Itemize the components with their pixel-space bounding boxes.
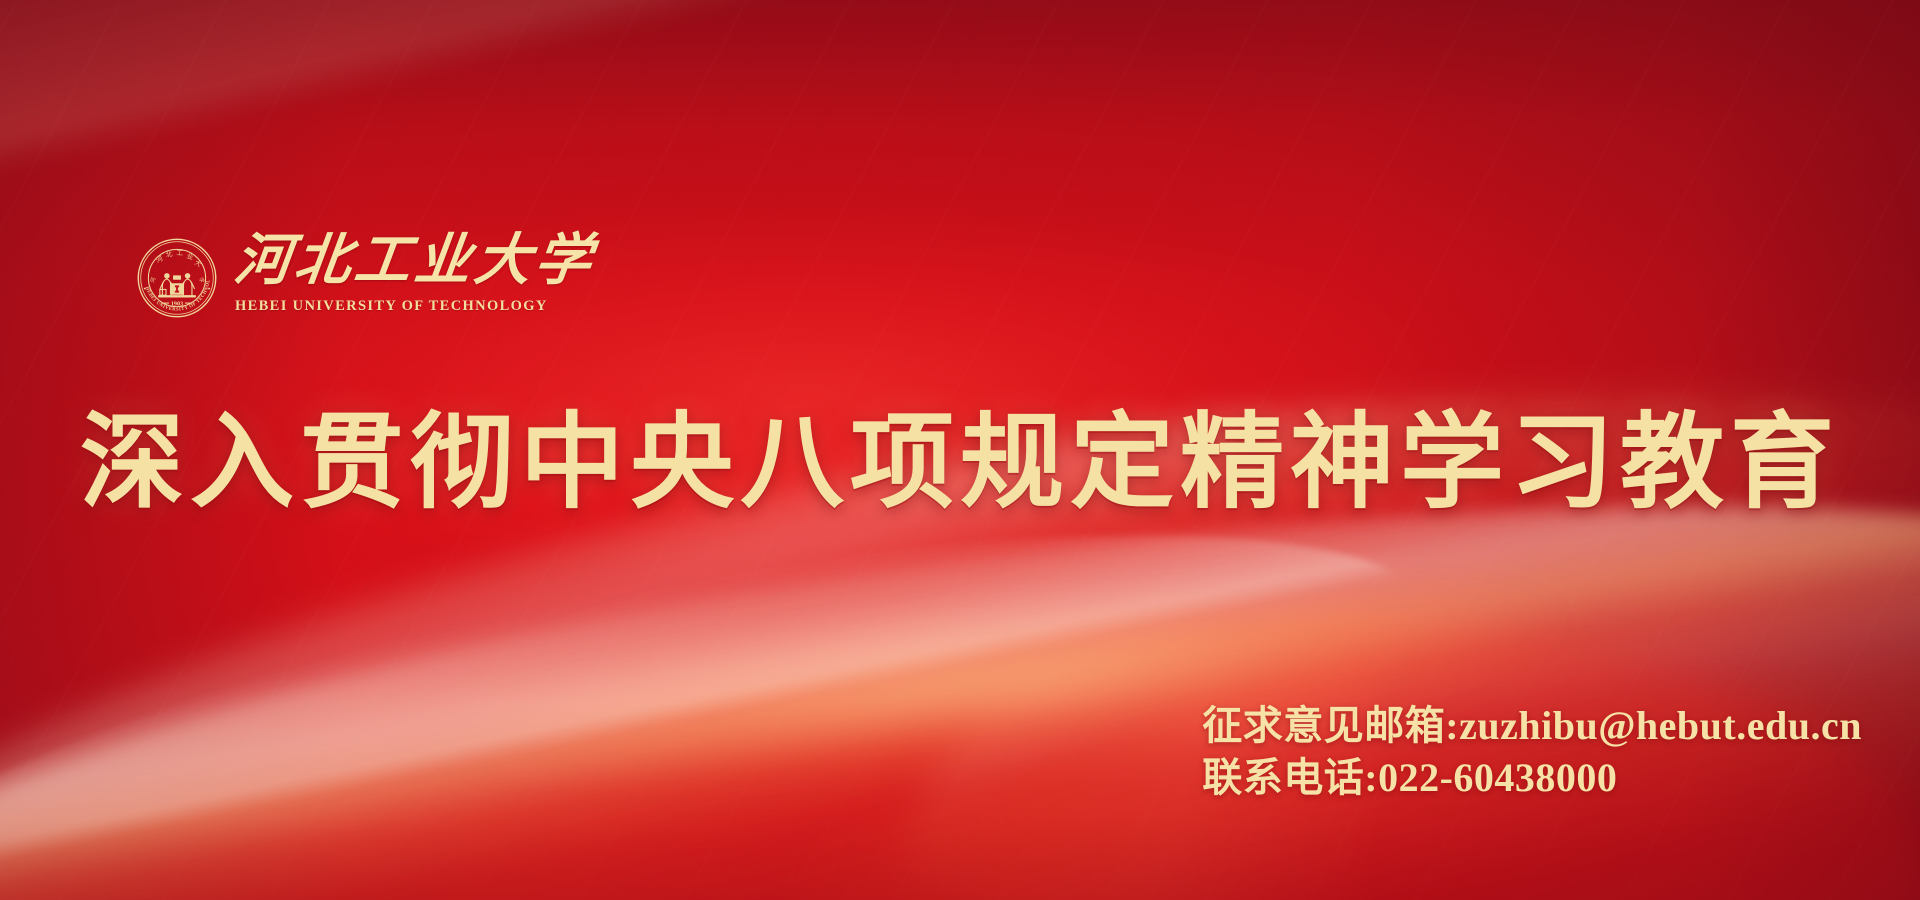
svg-text:工: 工 — [176, 249, 183, 257]
university-name-cn: 河北工业大学 — [232, 232, 599, 288]
svg-text:河: 河 — [148, 276, 157, 284]
logo-text-block: 河北工业大学 HEBEI UNIVERSITY OF TECHNOLOGY — [235, 232, 595, 315]
banner-root: HEBEI UNIVERSITY OF TECHNOLOGY 河 北 工 业 大… — [0, 0, 1920, 900]
svg-text:河: 河 — [155, 254, 165, 264]
university-name-en: HEBEI UNIVERSITY OF TECHNOLOGY — [235, 298, 595, 315]
svg-text:1903: 1903 — [171, 302, 183, 308]
university-seal-icon: HEBEI UNIVERSITY OF TECHNOLOGY 河 北 工 业 大… — [133, 234, 221, 322]
feedback-email-line: 征求意见邮箱:zuzhibu@hebut.edu.cn — [1202, 700, 1862, 752]
svg-text:业: 业 — [186, 251, 195, 262]
banner-content: HEBEI UNIVERSITY OF TECHNOLOGY 河 北 工 业 大… — [0, 0, 1920, 900]
main-headline: 深入贯彻中央八项规定精神学习教育 — [0, 404, 1920, 520]
contact-phone-line: 联系电话:022-60438000 — [1202, 752, 1862, 804]
contact-block: 征求意见邮箱:zuzhibu@hebut.edu.cn 联系电话:022-604… — [1202, 700, 1862, 804]
university-logo-lockup: HEBEI UNIVERSITY OF TECHNOLOGY 河 北 工 业 大… — [133, 232, 595, 322]
svg-text:北: 北 — [165, 250, 174, 259]
